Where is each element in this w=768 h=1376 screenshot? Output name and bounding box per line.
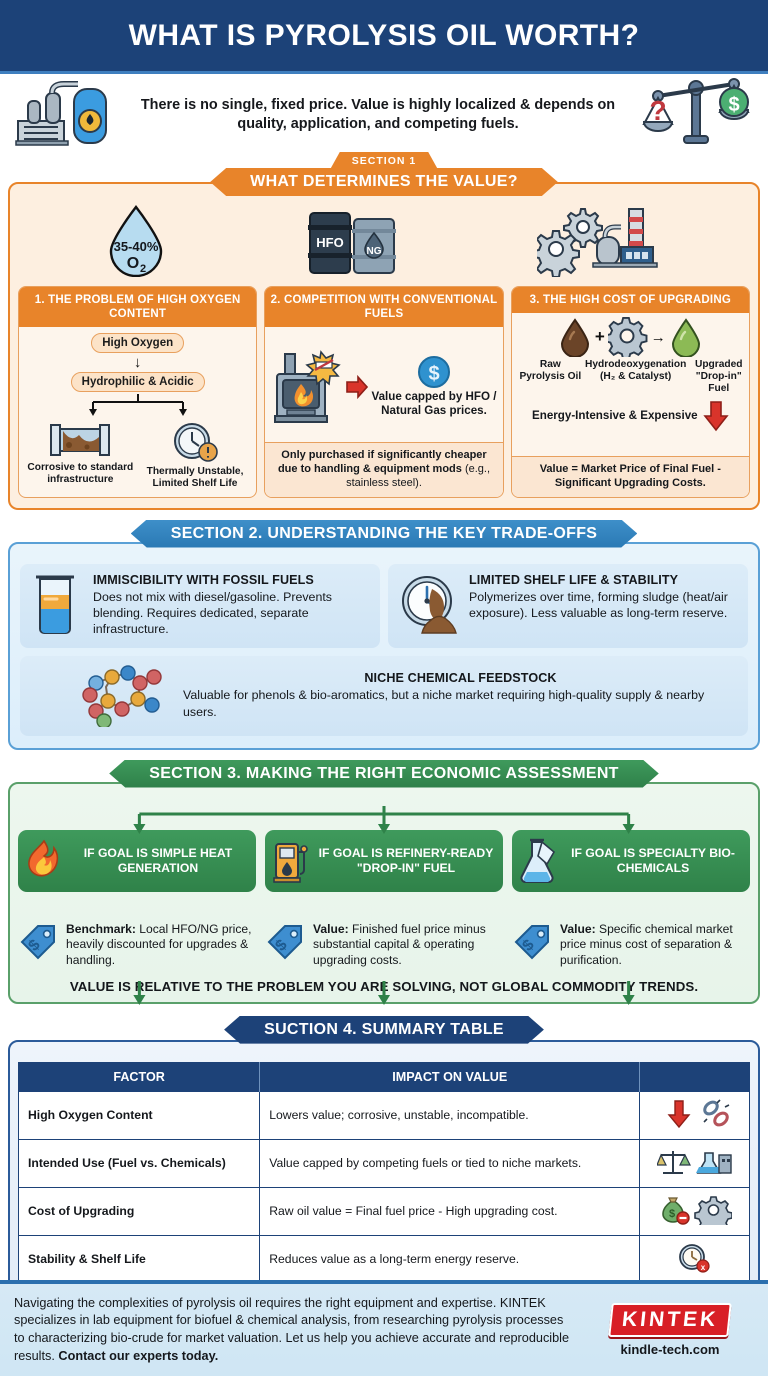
column-icons bbox=[640, 1062, 750, 1091]
table-row: Cost of Upgrading Raw oil value = Final … bbox=[19, 1187, 750, 1235]
tradeoff-immiscibility: IMMISCIBILITY WITH FOSSIL FUELS Does not… bbox=[20, 564, 380, 648]
note-label: Value: bbox=[560, 922, 596, 936]
svg-text:x: x bbox=[700, 1263, 705, 1272]
section1-title: WHAT DETERMINES THE VALUE? bbox=[210, 168, 558, 196]
goal-card-dropin-fuel: IF GOAL IS REFINERY-READY "DROP-IN" FUEL bbox=[265, 830, 503, 892]
outcome-label: Corrosive to standard infrastructure bbox=[25, 462, 136, 486]
balance-scale-icon: ? $ bbox=[638, 78, 754, 153]
down-connectors-icon bbox=[10, 981, 758, 1007]
card-body: + → Raw Pyrolysis Oil Hydrodeo bbox=[512, 313, 749, 456]
card-body: $ Value capped by HFO / Natural Gas pric… bbox=[265, 327, 502, 442]
gear-icon bbox=[608, 317, 648, 357]
section1-tag: SECTION 1 bbox=[330, 152, 438, 170]
tradeoff-niche-feedstock: NICHE CHEMICAL FEEDSTOCK Valuable for ph… bbox=[20, 656, 748, 736]
row-icons bbox=[640, 1091, 750, 1139]
section3-goal-cards: IF GOAL IS SIMPLE HEAT GENERATION IF GOA… bbox=[18, 830, 750, 892]
section4-ribbon: SUCTION 4. SUMMARY TABLE bbox=[0, 1016, 768, 1044]
kintek-logo: KINTEK bbox=[608, 1303, 732, 1337]
row-factor: Intended Use (Fuel vs. Chemicals) bbox=[19, 1139, 260, 1187]
red-down-arrow-icon bbox=[669, 1101, 689, 1127]
card-high-oxygen: 1. THE PROBLEM OF HIGH OXYGEN CONTENT Hi… bbox=[18, 286, 257, 498]
intro-text: There is no single, fixed price. Value i… bbox=[126, 96, 630, 135]
card-body: High Oxygen ↓ Hydrophilic & Acidic bbox=[19, 327, 256, 496]
svg-text:HFO: HFO bbox=[316, 235, 343, 250]
note-biochem: $ Value: Specific chemical market price … bbox=[512, 922, 750, 969]
tradeoff-title: LIMITED SHELF LIFE & STABILITY bbox=[469, 573, 738, 587]
goal-card-title: IF GOAL IS SIMPLE HEAT GENERATION bbox=[68, 846, 248, 875]
down-arrow-icon: ↓ bbox=[134, 355, 142, 370]
svg-text:$: $ bbox=[728, 94, 739, 116]
molecule-ring-icon bbox=[82, 665, 174, 727]
dollar-coin-icon: $ bbox=[417, 355, 451, 389]
section4-title: SUCTION 4. SUMMARY TABLE bbox=[224, 1016, 544, 1044]
oxygen-droplet-icon: 35-40% O 2 bbox=[105, 203, 167, 282]
section2-row: IMMISCIBILITY WITH FOSSIL FUELS Does not… bbox=[20, 564, 748, 648]
row-factor: Stability & Shelf Life bbox=[19, 1235, 260, 1283]
section2-title: SECTION 2. UNDERSTANDING THE KEY TRADE-O… bbox=[131, 520, 638, 548]
goal-card-title: IF GOAL IS SPECIALTY BIO-CHEMICALS bbox=[564, 846, 742, 875]
price-tag-icon: $ bbox=[512, 922, 554, 964]
section3-notes: $ Benchmark: Local HFO/NG price, heavily… bbox=[18, 922, 750, 969]
summary-table: FACTOR IMPACT ON VALUE High Oxygen Conte… bbox=[18, 1062, 750, 1284]
card-upgrading-cost: 3. THE HIGH COST OF UPGRADING + → bbox=[511, 286, 750, 498]
card-heading: 1. THE PROBLEM OF HIGH OXYGEN CONTENT bbox=[19, 287, 256, 327]
fuel-pump-icon bbox=[273, 838, 311, 884]
svg-text:NG: NG bbox=[366, 246, 381, 257]
tradeoff-body: Does not mix with diesel/gasoline. Preve… bbox=[93, 589, 370, 637]
beaker-layers-icon bbox=[30, 573, 84, 639]
brand-url[interactable]: kindle-tech.com bbox=[586, 1342, 754, 1357]
note-heat: $ Benchmark: Local HFO/NG price, heavily… bbox=[18, 922, 256, 969]
svg-text:?: ? bbox=[649, 95, 666, 126]
section3-panel: IF GOAL IS SIMPLE HEAT GENERATION IF GOA… bbox=[8, 782, 760, 1004]
flow-pill-high-oxygen: High Oxygen bbox=[91, 333, 184, 353]
tradeoff-shelf-life: LIMITED SHELF LIFE & STABILITY Polymeriz… bbox=[388, 564, 748, 648]
column-factor: FACTOR bbox=[19, 1062, 260, 1091]
gears-factory-icon bbox=[537, 203, 663, 282]
section3-ribbon: SECTION 3. MAKING THE RIGHT ECONOMIC ASS… bbox=[0, 760, 768, 788]
page-footer: Navigating the complexities of pyrolysis… bbox=[0, 1280, 768, 1376]
page-title: WHAT IS PYROLYSIS OIL WORTH? bbox=[129, 19, 640, 53]
row-impact: Lowers value; corrosive, unstable, incom… bbox=[260, 1091, 640, 1139]
goal-card-biochemicals: IF GOAL IS SPECIALTY BIO-CHEMICALS bbox=[512, 830, 750, 892]
money-bag-minus-icon: $ bbox=[663, 1198, 689, 1224]
tradeoff-title: IMMISCIBILITY WITH FOSSIL FUELS bbox=[93, 573, 370, 587]
green-fuel-droplet-icon bbox=[669, 317, 703, 357]
intro-band: There is no single, fixed price. Value i… bbox=[0, 74, 768, 152]
chemical-plant-icon bbox=[696, 1153, 731, 1173]
svg-text:2: 2 bbox=[140, 263, 146, 275]
table-header-row: FACTOR IMPACT ON VALUE bbox=[19, 1062, 750, 1091]
price-tag-icon: $ bbox=[18, 922, 60, 964]
section2-ribbon: SECTION 2. UNDERSTANDING THE KEY TRADE-O… bbox=[0, 520, 768, 548]
goal-card-heat: IF GOAL IS SIMPLE HEAT GENERATION bbox=[18, 830, 256, 892]
goal-card-title: IF GOAL IS REFINERY-READY "DROP-IN" FUEL bbox=[317, 846, 495, 875]
card2-body-text: Value capped by HFO / Natural Gas prices… bbox=[371, 390, 496, 418]
outcome-label: Thermally Unstable, Limited Shelf Life bbox=[140, 466, 251, 490]
section4-panel: FACTOR IMPACT ON VALUE High Oxygen Conte… bbox=[8, 1040, 760, 1296]
branch-connectors-icon bbox=[10, 806, 758, 836]
svg-text:O: O bbox=[127, 255, 139, 272]
burning-stove-icon bbox=[271, 348, 343, 426]
row-factor: High Oxygen Content bbox=[19, 1091, 260, 1139]
chain-label-upgraded: Upgraded "Drop-in" Fuel bbox=[688, 359, 749, 396]
card-footer: Value = Market Price of Final Fuel - Sig… bbox=[512, 456, 749, 497]
row-impact: Value capped by competing fuels or tied … bbox=[260, 1139, 640, 1187]
clock-warning-icon bbox=[171, 421, 219, 463]
section1-icon-row: 35-40% O 2 HFO NG bbox=[18, 206, 750, 282]
note-label: Benchmark: bbox=[66, 922, 136, 936]
infographic-page: WHAT IS PYROLYSIS OIL WORTH? There is no… bbox=[0, 0, 768, 1376]
svg-text:$: $ bbox=[669, 1208, 675, 1220]
card-heading: 2. COMPETITION WITH CONVENTIONAL FUELS bbox=[265, 287, 502, 327]
flow-pill-hydrophilic: Hydrophilic & Acidic bbox=[71, 372, 205, 392]
row-icons: $ bbox=[640, 1187, 750, 1235]
tradeoff-body: Polymerizes over time, forming sludge (h… bbox=[469, 589, 738, 621]
note-dropin: $ Value: Finished fuel price minus subst… bbox=[265, 922, 503, 969]
tradeoff-title: NICHE CHEMICAL FEEDSTOCK bbox=[183, 671, 738, 685]
card-competition: 2. COMPETITION WITH CONVENTIONAL FUELS bbox=[264, 286, 503, 498]
row-icons bbox=[640, 1139, 750, 1187]
card2-foot-bold: Only purchased if significantly cheaper … bbox=[278, 449, 487, 475]
chain-label-hdo: Hydrodeoxygenation (H₂ & Catalyst) bbox=[585, 359, 686, 396]
plus-operator: + bbox=[595, 327, 605, 347]
clock-expired-icon: x bbox=[672, 1243, 718, 1273]
clock-sludge-icon bbox=[398, 573, 460, 639]
price-tag-icon: $ bbox=[265, 922, 307, 964]
broken-link-icon bbox=[702, 1099, 729, 1127]
chain-label-raw: Raw Pyrolysis Oil bbox=[518, 359, 583, 396]
table-row: Stability & Shelf Life Reduces value as … bbox=[19, 1235, 750, 1283]
refinery-icon bbox=[14, 79, 118, 152]
row-impact: Raw oil value = Final fuel price - High … bbox=[260, 1187, 640, 1235]
page-header: WHAT IS PYROLYSIS OIL WORTH? bbox=[0, 0, 768, 74]
column-impact: IMPACT ON VALUE bbox=[260, 1062, 640, 1091]
row-icons: x bbox=[640, 1235, 750, 1283]
section3-title: SECTION 3. MAKING THE RIGHT ECONOMIC ASS… bbox=[109, 760, 659, 788]
gear-icon bbox=[695, 1197, 732, 1225]
row-factor: Cost of Upgrading bbox=[19, 1187, 260, 1235]
upgrading-note: Energy-Intensive & Expensive bbox=[532, 409, 698, 423]
fuel-barrels-icon: HFO NG bbox=[306, 205, 398, 282]
arrow-operator: → bbox=[651, 329, 666, 346]
corroded-pipe-icon bbox=[49, 421, 111, 459]
branch-arrows-icon bbox=[63, 394, 213, 420]
row-impact: Reduces value as a long-term energy rese… bbox=[260, 1235, 640, 1283]
note-label: Value: bbox=[313, 922, 349, 936]
flame-icon bbox=[26, 839, 62, 883]
section1-panel: 35-40% O 2 HFO NG bbox=[8, 182, 760, 510]
red-down-arrow-icon bbox=[703, 400, 729, 432]
card-heading: 3. THE HIGH COST OF UPGRADING bbox=[512, 287, 749, 313]
scales-icon bbox=[657, 1151, 690, 1173]
brand-block: KINTEK kindle-tech.com bbox=[586, 1303, 754, 1357]
svg-text:35-40%: 35-40% bbox=[114, 239, 159, 254]
card-footer: Only purchased if significantly cheaper … bbox=[265, 442, 502, 496]
section2-panel: IMMISCIBILITY WITH FOSSIL FUELS Does not… bbox=[8, 542, 760, 750]
section1-cards: 1. THE PROBLEM OF HIGH OXYGEN CONTENT Hi… bbox=[18, 286, 750, 498]
flask-icon bbox=[520, 838, 558, 884]
tradeoff-body: Valuable for phenols & bio-aromatics, bu… bbox=[183, 687, 738, 719]
section1-ribbon: SECTION 1 WHAT DETERMINES THE VALUE? bbox=[0, 152, 768, 196]
svg-text:$: $ bbox=[428, 363, 439, 385]
footer-text: Navigating the complexities of pyrolysis… bbox=[14, 1295, 574, 1365]
table-row: Intended Use (Fuel vs. Chemicals) Value … bbox=[19, 1139, 750, 1187]
table-row: High Oxygen Content Lowers value; corros… bbox=[19, 1091, 750, 1139]
brown-oil-droplet-icon bbox=[558, 317, 592, 357]
footer-cta[interactable]: Contact our experts today. bbox=[58, 1349, 218, 1363]
red-arrow-right-icon bbox=[346, 374, 368, 400]
